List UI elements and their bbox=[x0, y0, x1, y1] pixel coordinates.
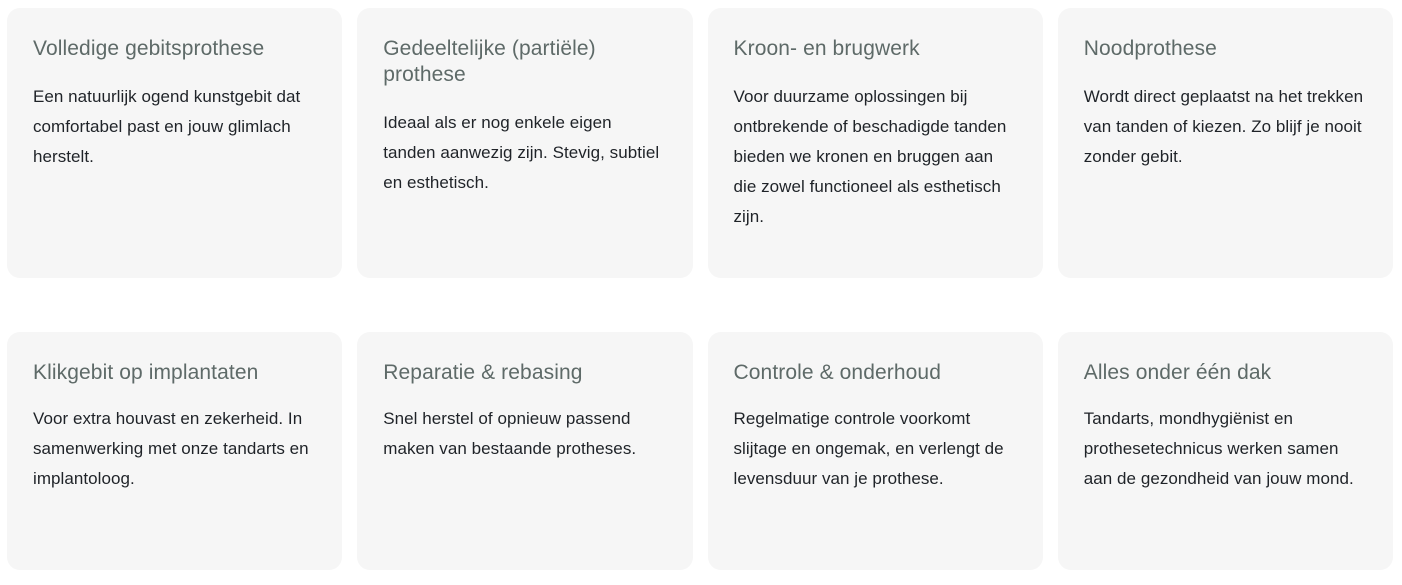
card-title: Kroon- en brugwerk bbox=[734, 36, 1016, 62]
card-title: Klikgebit op implantaten bbox=[33, 360, 315, 386]
service-card-volledige-gebitsprothese[interactable]: Volledige gebitsprothese Een natuurlijk … bbox=[7, 8, 342, 278]
card-description: Snel herstel of opnieuw passend maken va… bbox=[383, 404, 665, 464]
card-title: Volledige gebitsprothese bbox=[33, 36, 315, 62]
card-description: Tandarts, mondhygiënist en prothesetechn… bbox=[1084, 404, 1366, 494]
service-card-gedeeltelijke-prothese[interactable]: Gedeeltelijke (partiële) prothese Ideaal… bbox=[357, 8, 692, 278]
services-grid: Volledige gebitsprothese Een natuurlijk … bbox=[0, 0, 1402, 585]
card-description: Regelmatige controle voorkomt slijtage e… bbox=[734, 404, 1016, 494]
service-card-kroon-en-brugwerk[interactable]: Kroon- en brugwerk Voor duurzame oplossi… bbox=[708, 8, 1043, 278]
card-title: Reparatie & rebasing bbox=[383, 360, 665, 386]
card-title: Alles onder één dak bbox=[1084, 360, 1366, 386]
card-description: Ideaal als er nog enkele eigen tanden aa… bbox=[383, 108, 665, 198]
card-description: Voor extra houvast en zekerheid. In same… bbox=[33, 404, 315, 494]
card-description: Wordt direct geplaatst na het trekken va… bbox=[1084, 82, 1366, 172]
service-card-controle-en-onderhoud[interactable]: Controle & onderhoud Regelmatige control… bbox=[708, 332, 1043, 570]
service-card-alles-onder-een-dak[interactable]: Alles onder één dak Tandarts, mondhygiën… bbox=[1058, 332, 1393, 570]
card-description: Voor duurzame oplossingen bij ontbrekend… bbox=[734, 82, 1016, 232]
card-title: Controle & onderhoud bbox=[734, 360, 1016, 386]
service-card-klikgebit-op-implantaten[interactable]: Klikgebit op implantaten Voor extra houv… bbox=[7, 332, 342, 570]
card-title: Gedeeltelijke (partiële) prothese bbox=[383, 36, 665, 88]
card-title: Noodprothese bbox=[1084, 36, 1366, 62]
service-card-noodprothese[interactable]: Noodprothese Wordt direct geplaatst na h… bbox=[1058, 8, 1393, 278]
service-card-reparatie-en-rebasing[interactable]: Reparatie & rebasing Snel herstel of opn… bbox=[357, 332, 692, 570]
card-description: Een natuurlijk ogend kunstgebit dat comf… bbox=[33, 82, 315, 172]
